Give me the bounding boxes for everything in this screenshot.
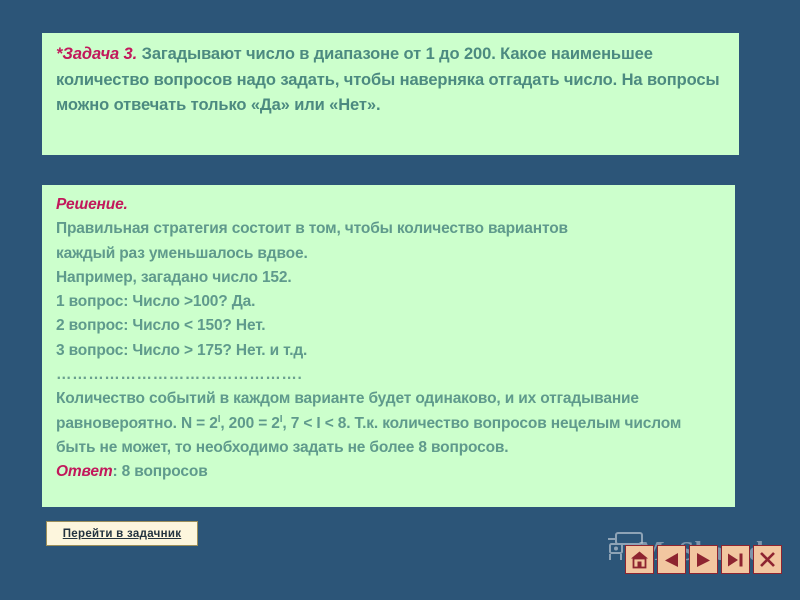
task-label: *Задача 3. (56, 45, 137, 63)
task-paragraph: *Задача 3. Загадывают число в диапазоне … (56, 42, 725, 119)
triangle-right-icon (694, 550, 713, 569)
close-button[interactable] (753, 545, 782, 574)
solution-line: 3 вопрос: Число > 175? Нет. и т.д. (56, 339, 721, 363)
triangle-left-icon (662, 550, 681, 569)
close-x-icon (758, 550, 777, 569)
solution-line: Правильная стратегия состоит в том, чтоб… (56, 217, 721, 241)
slide-canvas: *Задача 3. Загадывают число в диапазоне … (0, 0, 800, 600)
navigation-bar (625, 545, 782, 574)
previous-button[interactable] (657, 545, 686, 574)
goto-problem-book-label: Перейти в задачник (63, 528, 182, 540)
solution-line: каждый раз уменьшалось вдвое. (56, 242, 721, 266)
solution-line: 2 вопрос: Число < 150? Нет. (56, 314, 721, 338)
solution-line: 1 вопрос: Число >100? Да. (56, 290, 721, 314)
solution-heading: Решение. (56, 193, 721, 217)
answer-label: Ответ (56, 463, 112, 480)
solution-answer: Ответ: 8 вопросов (56, 460, 721, 484)
solution-explanation: Количество событий в каждом варианте буд… (56, 387, 721, 460)
solution-ellipsis-line: ………………………………………. (56, 363, 721, 387)
task-box: *Задача 3. Загадывают число в диапазоне … (42, 33, 739, 155)
solution-line: Например, загадано число 152. (56, 266, 721, 290)
explanation-part-2: , 200 = 2 (220, 415, 279, 432)
goto-problem-book-button[interactable]: Перейти в задачник (46, 521, 198, 546)
last-button[interactable] (721, 545, 750, 574)
solution-heading-text: Решение. (56, 196, 128, 213)
solution-box: Решение. Правильная стратегия состоит в … (42, 185, 735, 507)
next-button[interactable] (689, 545, 718, 574)
home-icon (630, 550, 649, 569)
triangle-right-bar-icon (726, 550, 745, 569)
task-body-text: Загадывают число в диапазоне от 1 до 200… (56, 45, 719, 114)
home-button[interactable] (625, 545, 654, 574)
answer-value: : 8 вопросов (112, 463, 207, 480)
